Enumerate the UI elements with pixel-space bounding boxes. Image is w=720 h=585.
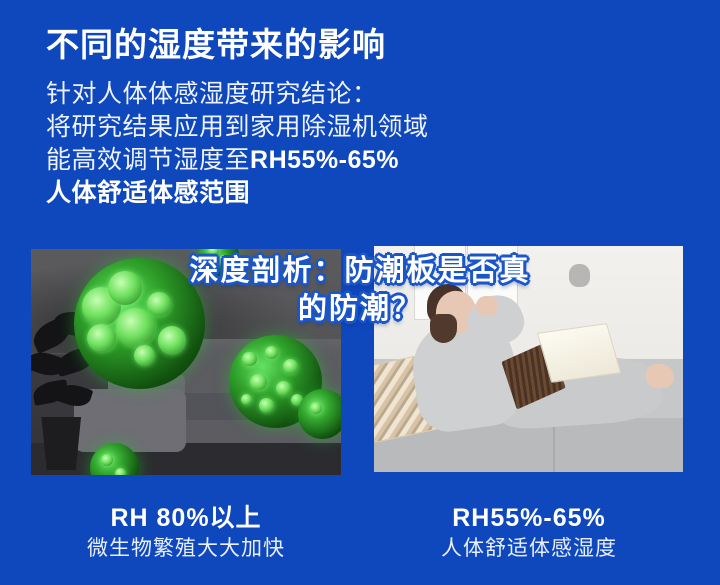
microbe-cluster-large [74,258,204,389]
intro-line-4: 人体舒适体感范围 [46,177,486,210]
woman-hand [476,296,498,316]
intro-line-3: 能高效调节湿度至RH55%-65% [46,144,486,177]
caption-left-main: RH 80%以上 [31,503,341,534]
page-title: 不同的湿度带来的影响 [46,18,386,66]
book-page-right [537,323,621,383]
intro-line-2: 将研究结果应用到家用除湿机领域 [46,111,486,144]
plant-pot [39,417,84,471]
caption-left-sub: 微生物繁殖大大加快 [31,534,341,564]
intro-text-block: 针对人体体感湿度研究结论： 将研究结果应用到家用除湿机领域 能高效调节湿度至RH… [46,78,486,210]
bright-room-scene [374,246,683,472]
intro-line-3-emphasis: RH55%-65% [250,146,399,174]
photo-panel-right [374,246,683,472]
caption-right-sub: 人体舒适体感湿度 [374,534,684,564]
intro-line-3-prefix: 能高效调节湿度至 [46,146,250,174]
photo-panel-left [31,249,341,475]
wall-speaker [569,264,591,287]
dark-room-scene [31,249,341,475]
caption-right-main: RH55%-65% [374,503,684,534]
woman-foot [646,364,674,389]
intro-line-1: 针对人体体感湿度研究结论： [46,78,486,111]
caption-left: RH 80%以上 微生物繁殖大大加快 [31,503,341,564]
caption-right: RH55%-65% 人体舒适体感湿度 [374,503,684,564]
microbe-speck [298,389,341,439]
poster-canvas: 不同的湿度带来的影响 针对人体体感湿度研究结论： 将研究结果应用到家用除湿机领域… [0,0,720,585]
